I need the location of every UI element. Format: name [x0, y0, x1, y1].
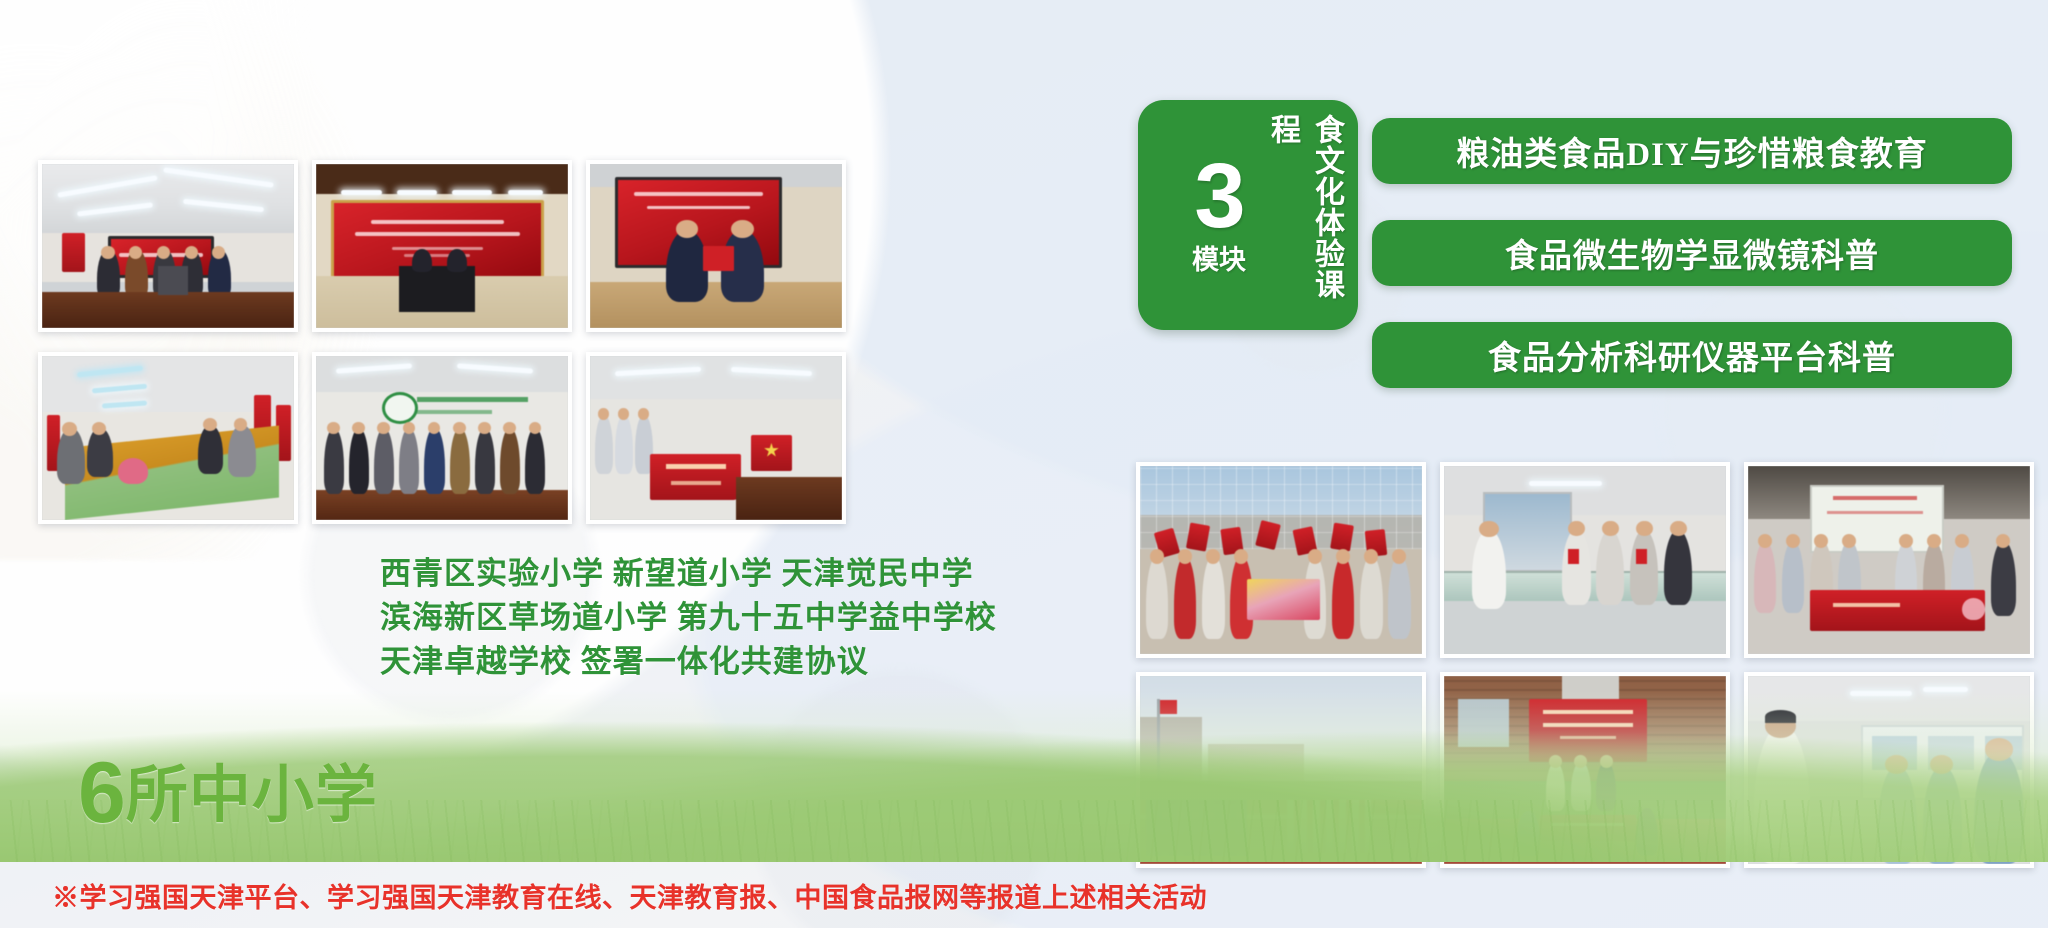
photo-meeting-group-podium[interactable]	[38, 160, 298, 332]
schools-list-line-2: 滨海新区草场道小学 第九十五中学益中学校	[380, 596, 830, 640]
footnote-text: ※学习强国天津平台、学习强国天津教育在线、天津教育报、中国食品报网等报道上述相关…	[52, 876, 1207, 915]
module-number: 3	[1194, 154, 1243, 239]
course-pill-1-label: 粮油类食品DIY与珍惜粮食教育	[1456, 127, 1928, 175]
photo-content	[316, 164, 568, 328]
schools-count-number: 6	[78, 745, 126, 841]
photo-agreement-handover[interactable]	[586, 160, 846, 332]
schools-list-line-1: 西青区实验小学 新望道小学 天津觉民中学	[380, 552, 830, 596]
module-vertical-title: 食文化体验课程	[1302, 114, 1348, 316]
schools-list-line-3: 天津卓越学校 签署一体化共建协议	[380, 640, 830, 684]
photo-students-red-flags[interactable]	[1136, 462, 1426, 658]
schools-count: 6所中小学	[78, 744, 378, 836]
course-pill-2[interactable]: 食品微生物学显微镜科普	[1372, 220, 2012, 286]
course-pill-2-label: 食品微生物学显微镜科普	[1505, 229, 1879, 277]
course-pill-1[interactable]: 粮油类食品DIY与珍惜粮食教育	[1372, 118, 2012, 184]
schools-count-suffix: 所中小学	[126, 762, 378, 830]
photo-flag-ceremony-hall[interactable]	[586, 352, 846, 524]
photo-content	[590, 164, 842, 328]
photo-content	[1444, 466, 1726, 654]
photo-college-group-photo[interactable]	[312, 352, 572, 524]
photo-content	[316, 356, 568, 520]
photo-auditorium-banner[interactable]	[1744, 462, 2034, 658]
module-number-label: 模块	[1192, 246, 1246, 276]
photo-content	[1140, 466, 1422, 654]
photo-content	[42, 164, 294, 328]
photo-lab-demonstration[interactable]	[1440, 462, 1730, 658]
course-pill-3[interactable]: 食品分析科研仪器平台科普	[1372, 322, 2012, 388]
photo-content	[590, 356, 842, 520]
photo-content	[42, 356, 294, 520]
photo-signing-ceremony-stage[interactable]	[312, 160, 572, 332]
module-card[interactable]: 3 模块 食文化体验课程	[1138, 100, 1358, 330]
schools-list: 西青区实验小学 新望道小学 天津觉民中学 滨海新区草场道小学 第九十五中学益中学…	[380, 552, 830, 684]
course-pill-3-label: 食品分析科研仪器平台科普	[1488, 331, 1896, 379]
photo-roundtable-discussion[interactable]	[38, 352, 298, 524]
photo-content	[1748, 466, 2030, 654]
